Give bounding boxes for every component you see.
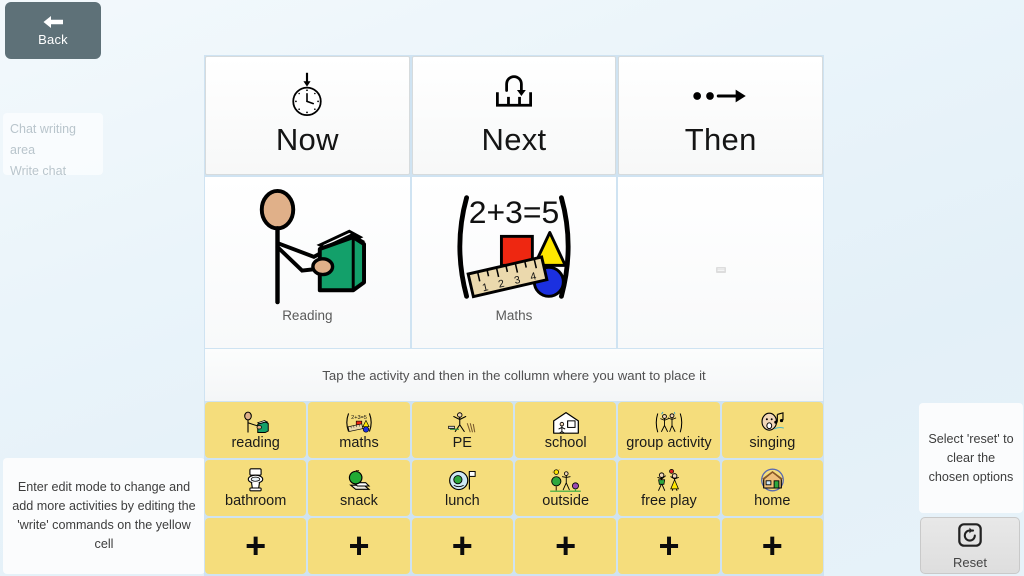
apple-snack-icon: [344, 466, 374, 492]
svg-text:2+3=5: 2+3=5: [469, 194, 560, 230]
activity-cell-snack-label: snack: [340, 493, 378, 510]
board-header-row: Now Next Then: [204, 55, 824, 176]
activity-cell-reading-label: reading: [231, 435, 279, 452]
edit-mode-hint-text: Enter edit mode to change and add more a…: [12, 478, 196, 554]
edit-mode-hint-card: Enter edit mode to change and add more a…: [3, 458, 205, 574]
plus-icon: +: [762, 529, 783, 563]
activity-cell-group-activity-label: group activity: [626, 435, 711, 452]
slot-next-label: Maths: [496, 308, 533, 323]
activity-cell-pe-label: PE: [453, 435, 472, 452]
add-activity-button-3[interactable]: +: [412, 518, 513, 574]
plus-icon: +: [452, 529, 473, 563]
column-header-now-label: Now: [276, 120, 339, 160]
activity-cell-school-label: school: [545, 435, 587, 452]
activity-cell-group-activity[interactable]: group activity: [618, 402, 719, 458]
plus-icon: +: [658, 529, 679, 563]
add-activity-button-4[interactable]: +: [515, 518, 616, 574]
slot-next[interactable]: 2+3=5 1 2 3 4: [412, 177, 617, 348]
instruction-bar: Tap the activity and then in the collumn…: [205, 349, 823, 401]
slot-now-label: Reading: [282, 308, 332, 323]
reset-hint-card: Select 'reset' to clear the chosen optio…: [919, 403, 1023, 513]
empty-slot-placeholder-icon: [716, 260, 726, 266]
activity-cell-maths-label: maths: [339, 435, 379, 452]
add-activity-button-2[interactable]: +: [308, 518, 409, 574]
activity-cell-home-label: home: [754, 493, 790, 510]
board-slot-row: Reading 2+3=5: [204, 176, 824, 349]
column-header-next[interactable]: Next: [412, 56, 617, 175]
home-house-icon: [760, 466, 785, 492]
chat-writing-area-text: Chat writing area Write chat: [10, 119, 96, 175]
maths-equation-shapes-icon: 2+3=5 1 2 3 4: [440, 188, 588, 306]
activity-cell-home[interactable]: home: [722, 460, 823, 516]
back-button-label: Back: [38, 32, 68, 47]
plus-icon: +: [555, 529, 576, 563]
activity-cell-pe[interactable]: PE: [412, 402, 513, 458]
back-button[interactable]: Back: [5, 2, 101, 59]
add-activity-button-5[interactable]: +: [618, 518, 719, 574]
toilet-icon: [244, 466, 267, 492]
activity-cell-lunch[interactable]: lunch: [412, 460, 513, 516]
activity-cell-school[interactable]: school: [515, 402, 616, 458]
plus-icon: +: [245, 529, 266, 563]
school-building-icon: [552, 408, 580, 434]
activity-cell-outside[interactable]: outside: [515, 460, 616, 516]
plus-icon: +: [348, 529, 369, 563]
left-arrow-icon: [40, 14, 66, 30]
person-reading-book-icon: [232, 188, 382, 306]
activity-cell-maths[interactable]: 2+3=5 maths: [308, 402, 409, 458]
lunch-plate-icon: [448, 466, 476, 492]
singing-face-music-icon: [758, 408, 787, 434]
chat-writing-area[interactable]: Chat writing area Write chat: [3, 113, 103, 175]
activity-cell-lunch-label: lunch: [445, 493, 480, 510]
activity-cell-singing-label: singing: [749, 435, 795, 452]
add-activity-row: + + + + + +: [204, 517, 824, 575]
person-reading-book-icon: [239, 408, 272, 434]
activity-cell-free-play-label: free play: [641, 493, 697, 510]
activity-row-1: reading 2+3=5 maths: [204, 401, 824, 459]
add-activity-button-6[interactable]: +: [722, 518, 823, 574]
dots-arrow-icon: [688, 72, 754, 120]
column-header-now[interactable]: Now: [205, 56, 410, 175]
slot-then[interactable]: [618, 177, 823, 348]
activity-cell-outside-label: outside: [542, 493, 589, 510]
group-of-people-icon: [654, 408, 684, 434]
slot-now[interactable]: Reading: [205, 177, 410, 348]
free-play-ball-icon: [654, 466, 683, 492]
activity-cell-bathroom-label: bathroom: [225, 493, 286, 510]
reset-icon: [957, 522, 983, 553]
column-header-then[interactable]: Then: [618, 56, 823, 175]
column-header-next-label: Next: [482, 120, 547, 160]
timeline-curved-arrow-icon: [484, 72, 544, 120]
add-activity-button-1[interactable]: +: [205, 518, 306, 574]
svg-text:2+3=5: 2+3=5: [351, 415, 367, 421]
activity-row-2: bathroom snack: [204, 459, 824, 517]
clock-down-arrow-icon: [279, 72, 335, 120]
reset-button[interactable]: Reset: [920, 517, 1020, 574]
activity-cell-singing[interactable]: singing: [722, 402, 823, 458]
reset-button-label: Reset: [953, 555, 987, 570]
activity-cell-reading[interactable]: reading: [205, 402, 306, 458]
now-next-then-board: Now Next Then: [204, 55, 824, 576]
instruction-text: Tap the activity and then in the collumn…: [322, 368, 705, 383]
column-header-then-label: Then: [685, 120, 757, 160]
reset-hint-text: Select 'reset' to clear the chosen optio…: [925, 430, 1017, 487]
outside-tree-sun-icon: [550, 466, 581, 492]
activity-cell-free-play[interactable]: free play: [618, 460, 719, 516]
pe-exercise-icon: [447, 408, 477, 434]
maths-equation-shapes-icon: 2+3=5: [343, 408, 375, 434]
activity-cell-bathroom[interactable]: bathroom: [205, 460, 306, 516]
activity-cell-snack[interactable]: snack: [308, 460, 409, 516]
